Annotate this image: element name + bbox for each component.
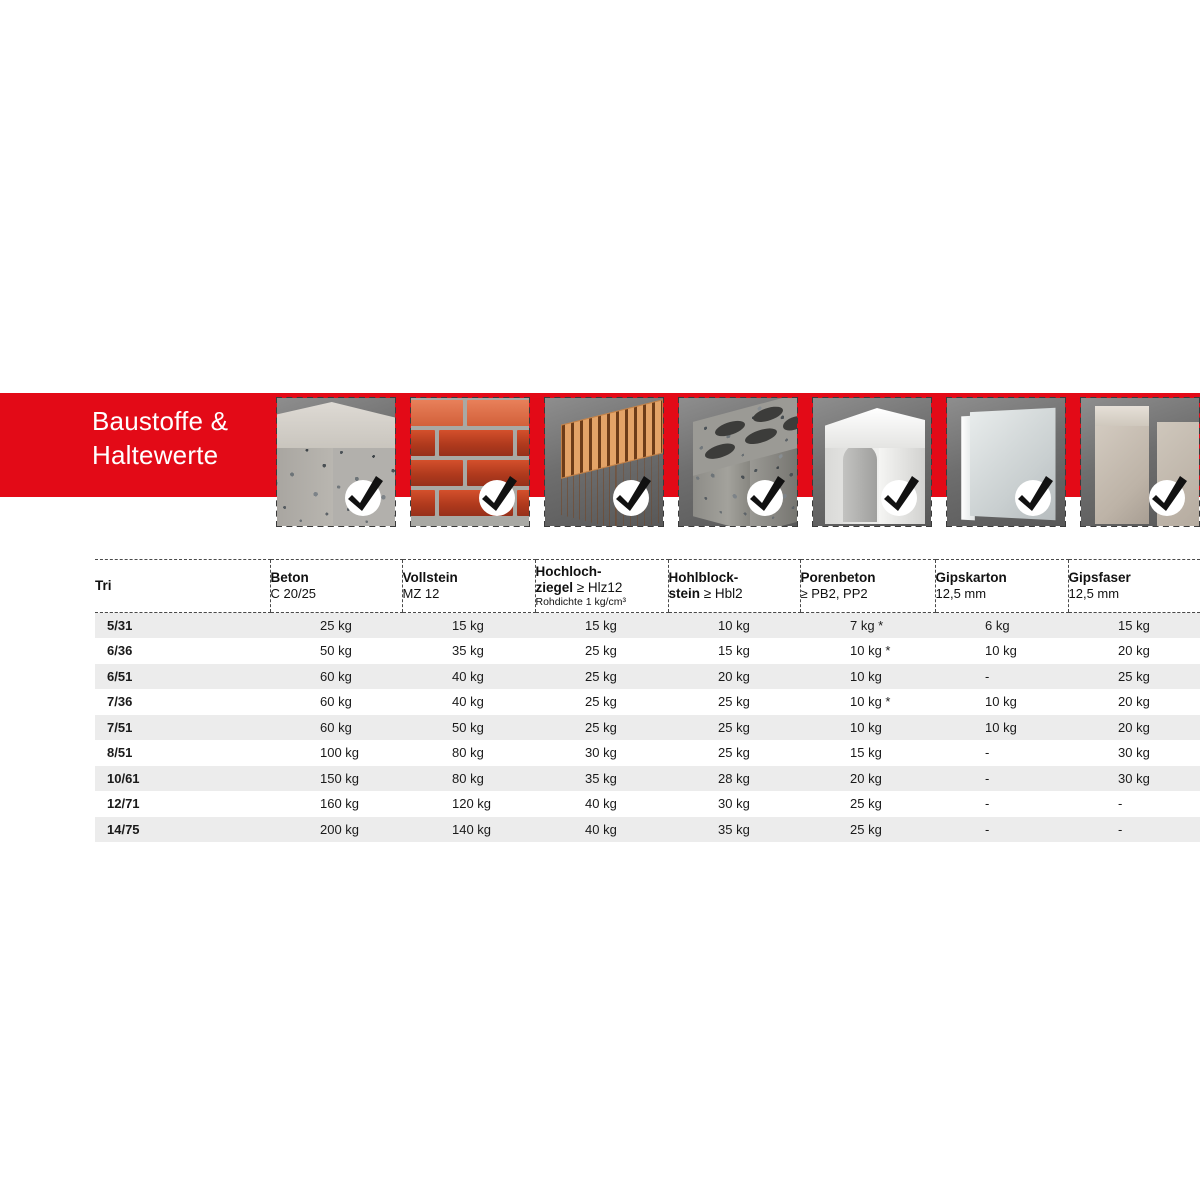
cell-hochlochziegel: 30 kg <box>535 740 668 766</box>
cell-porenbeton: 10 kg * <box>800 689 935 715</box>
cell-gipsfaser: 20 kg <box>1068 689 1200 715</box>
column-header-hochlochziegel: Hochloch- ziegel ≥ Hlz12 Rohdichte 1 kg/… <box>535 560 668 613</box>
cell-gipsfaser: 20 kg <box>1068 715 1200 741</box>
table-row: 7/3660 kg40 kg25 kg25 kg10 kg *10 kg20 k… <box>95 689 1200 715</box>
checkmark-badge <box>611 470 657 516</box>
checkmark-icon <box>477 470 523 516</box>
cell-vollstein: 35 kg <box>402 638 535 664</box>
table-body: 5/3125 kg15 kg15 kg10 kg7 kg *6 kg15 kg … <box>95 613 1200 843</box>
material-swatch-gipsfaser[interactable] <box>1081 398 1199 526</box>
column-header-tri: Tri <box>95 560 270 613</box>
cell-gipsfaser: 25 kg <box>1068 664 1200 690</box>
table-row: 10/61150 kg80 kg35 kg28 kg20 kg-30 kg <box>95 766 1200 792</box>
cell-tri: 10/61 <box>95 766 270 792</box>
cell-gipskarton: 10 kg <box>935 715 1068 741</box>
cell-hochlochziegel: 35 kg <box>535 766 668 792</box>
cell-gipskarton: - <box>935 766 1068 792</box>
cell-hohlblockstein: 28 kg <box>668 766 800 792</box>
cell-gipsfaser: 15 kg <box>1068 613 1200 639</box>
cell-tri: 14/75 <box>95 817 270 843</box>
cell-hochlochziegel: 40 kg <box>535 791 668 817</box>
cell-gipskarton: 10 kg <box>935 689 1068 715</box>
cell-hohlblockstein: 25 kg <box>668 689 800 715</box>
cell-beton: 60 kg <box>270 689 402 715</box>
column-header-gipskarton: Gipskarton 12,5 mm <box>935 560 1068 613</box>
table-row: 5/3125 kg15 kg15 kg10 kg7 kg *6 kg15 kg <box>95 613 1200 639</box>
cell-tri: 8/51 <box>95 740 270 766</box>
cell-porenbeton: 10 kg <box>800 664 935 690</box>
cell-hohlblockstein: 25 kg <box>668 740 800 766</box>
cell-porenbeton: 25 kg <box>800 791 935 817</box>
column-header-hohlblockstein: Hohlblock- stein ≥ Hbl2 <box>668 560 800 613</box>
cell-beton: 160 kg <box>270 791 402 817</box>
checkmark-badge <box>1013 470 1059 516</box>
column-header-gipsfaser: Gipsfaser 12,5 mm <box>1068 560 1200 613</box>
checkmark-badge <box>1147 470 1193 516</box>
checkmark-badge <box>343 470 389 516</box>
cell-gipskarton: - <box>935 817 1068 843</box>
cell-hohlblockstein: 35 kg <box>668 817 800 843</box>
banner-title: Baustoffe & Haltewerte <box>92 404 292 472</box>
checkmark-icon <box>745 470 791 516</box>
material-swatch-strip <box>277 398 1200 526</box>
cell-hochlochziegel: 25 kg <box>535 715 668 741</box>
column-header-vollstein: Vollstein MZ 12 <box>402 560 535 613</box>
table-row: 14/75200 kg140 kg40 kg35 kg25 kg-- <box>95 817 1200 843</box>
cell-vollstein: 140 kg <box>402 817 535 843</box>
column-header-beton: Beton C 20/25 <box>270 560 402 613</box>
cell-porenbeton: 15 kg <box>800 740 935 766</box>
checkmark-badge <box>879 470 925 516</box>
cell-gipskarton: - <box>935 664 1068 690</box>
cell-gipskarton: - <box>935 791 1068 817</box>
cell-hochlochziegel: 40 kg <box>535 817 668 843</box>
cell-hohlblockstein: 30 kg <box>668 791 800 817</box>
table-row: 12/71160 kg120 kg40 kg30 kg25 kg-- <box>95 791 1200 817</box>
cell-beton: 60 kg <box>270 664 402 690</box>
cell-gipskarton: 10 kg <box>935 638 1068 664</box>
material-swatch-porenbeton[interactable] <box>813 398 931 526</box>
cell-vollstein: 40 kg <box>402 689 535 715</box>
checkmark-icon <box>611 470 657 516</box>
holding-values-table-wrapper: Tri Beton C 20/25 Vollstein MZ 12 Hochlo… <box>95 559 1200 842</box>
table-row: 8/51100 kg80 kg30 kg25 kg15 kg-30 kg <box>95 740 1200 766</box>
checkmark-badge <box>477 470 523 516</box>
table-row: 6/3650 kg35 kg25 kg15 kg10 kg *10 kg20 k… <box>95 638 1200 664</box>
cell-gipsfaser: 30 kg <box>1068 766 1200 792</box>
material-swatch-gipskarton[interactable] <box>947 398 1065 526</box>
cell-gipskarton: - <box>935 740 1068 766</box>
cell-beton: 25 kg <box>270 613 402 639</box>
cell-porenbeton: 10 kg * <box>800 638 935 664</box>
cell-gipskarton: 6 kg <box>935 613 1068 639</box>
cell-hohlblockstein: 15 kg <box>668 638 800 664</box>
cell-vollstein: 15 kg <box>402 613 535 639</box>
cell-hohlblockstein: 10 kg <box>668 613 800 639</box>
cell-hochlochziegel: 25 kg <box>535 638 668 664</box>
cell-hochlochziegel: 25 kg <box>535 664 668 690</box>
table-header-row: Tri Beton C 20/25 Vollstein MZ 12 Hochlo… <box>95 560 1200 613</box>
cell-tri: 6/36 <box>95 638 270 664</box>
cell-tri: 12/71 <box>95 791 270 817</box>
cell-porenbeton: 25 kg <box>800 817 935 843</box>
checkmark-icon <box>1013 470 1059 516</box>
cell-porenbeton: 7 kg * <box>800 613 935 639</box>
cell-beton: 100 kg <box>270 740 402 766</box>
cell-gipsfaser: - <box>1068 791 1200 817</box>
checkmark-icon <box>879 470 925 516</box>
table-row: 6/5160 kg40 kg25 kg20 kg10 kg-25 kg <box>95 664 1200 690</box>
cell-vollstein: 50 kg <box>402 715 535 741</box>
column-header-porenbeton: Porenbeton ≥ PB2, PP2 <box>800 560 935 613</box>
checkmark-icon <box>1147 470 1193 516</box>
cell-porenbeton: 10 kg <box>800 715 935 741</box>
cell-tri: 5/31 <box>95 613 270 639</box>
cell-hohlblockstein: 20 kg <box>668 664 800 690</box>
cell-vollstein: 120 kg <box>402 791 535 817</box>
cell-beton: 60 kg <box>270 715 402 741</box>
cell-gipsfaser: 20 kg <box>1068 638 1200 664</box>
cell-beton: 200 kg <box>270 817 402 843</box>
cell-gipsfaser: - <box>1068 817 1200 843</box>
cell-beton: 50 kg <box>270 638 402 664</box>
cell-tri: 6/51 <box>95 664 270 690</box>
material-swatch-hohlblockstein[interactable] <box>679 398 797 526</box>
aerated-block-groove <box>843 444 877 522</box>
cell-beton: 150 kg <box>270 766 402 792</box>
cell-hochlochziegel: 25 kg <box>535 689 668 715</box>
cell-tri: 7/36 <box>95 689 270 715</box>
fibreboard-top-edge <box>1095 406 1149 426</box>
checkmark-icon <box>343 470 389 516</box>
cell-gipsfaser: 30 kg <box>1068 740 1200 766</box>
cell-vollstein: 80 kg <box>402 740 535 766</box>
table-header: Tri Beton C 20/25 Vollstein MZ 12 Hochlo… <box>95 560 1200 613</box>
cell-hochlochziegel: 15 kg <box>535 613 668 639</box>
cell-hohlblockstein: 25 kg <box>668 715 800 741</box>
cell-vollstein: 40 kg <box>402 664 535 690</box>
holding-values-table: Tri Beton C 20/25 Vollstein MZ 12 Hochlo… <box>95 559 1200 842</box>
material-swatch-vollstein[interactable] <box>411 398 529 526</box>
cell-tri: 7/51 <box>95 715 270 741</box>
material-swatch-hochlochziegel[interactable] <box>545 398 663 526</box>
cell-vollstein: 80 kg <box>402 766 535 792</box>
checkmark-badge <box>745 470 791 516</box>
table-row: 7/5160 kg50 kg25 kg25 kg10 kg10 kg20 kg <box>95 715 1200 741</box>
cell-porenbeton: 20 kg <box>800 766 935 792</box>
material-swatch-beton[interactable] <box>277 398 395 526</box>
